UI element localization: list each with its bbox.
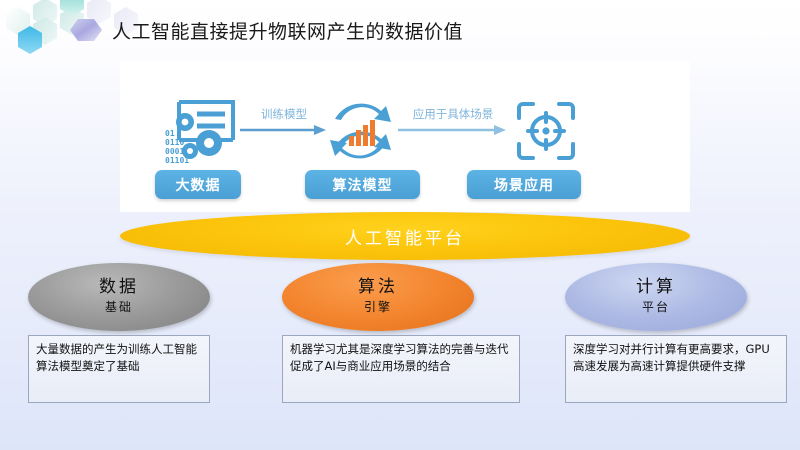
flow-node-scene[interactable]: 场景应用	[467, 170, 581, 199]
pillar-algorithm-title: 算法	[358, 279, 398, 297]
page-title: 人工智能直接提升物联网产生的数据价值	[112, 17, 463, 44]
document-gears-binary-icon: 01 0110 0001 01101	[163, 96, 245, 168]
pillar-algorithm-ellipse[interactable]: 算法 引擎	[282, 263, 474, 331]
svg-text:0110: 0110	[165, 138, 184, 147]
refresh-cycle-barchart-icon	[325, 98, 395, 164]
pillar-algorithm-note: 机器学习尤其是深度学习算法的完善与迭代促成了AI与商业应用场景的结合	[282, 335, 520, 403]
pillar-data-title: 数据	[99, 279, 139, 297]
flow-arrow-2-label: 应用于具体场景	[398, 106, 508, 122]
pillar-data-subtitle: 基础	[105, 298, 133, 315]
flow-node-bigdata[interactable]: 大数据	[155, 170, 241, 199]
pillar-algorithm: 算法 引擎 机器学习尤其是深度学习算法的完善与迭代促成了AI与商业应用场景的结合	[282, 263, 474, 331]
pillar-compute-subtitle: 平台	[642, 298, 670, 315]
pillar-data-note: 大量数据的产生为训练人工智能算法模型奠定了基础	[28, 335, 210, 403]
svg-text:01101: 01101	[165, 156, 189, 165]
arrow-right-icon	[398, 124, 508, 136]
ai-platform-label: 人工智能平台	[345, 224, 465, 249]
arrow-right-icon	[240, 124, 328, 136]
svg-text:01: 01	[165, 129, 175, 138]
ai-platform-banner: 人工智能平台	[120, 212, 690, 260]
focus-target-crosshair-icon	[515, 100, 577, 162]
pillar-data: 数据 基础 大量数据的产生为训练人工智能算法模型奠定了基础	[28, 263, 210, 331]
slide-header: 人工智能直接提升物联网产生的数据价值	[0, 0, 800, 58]
pillar-compute: 计算 平台 深度学习对并行计算有更高要求，GPU高速发展为高速计算提供硬件支撑	[565, 263, 747, 331]
pillar-compute-note: 深度学习对并行计算有更高要求，GPU高速发展为高速计算提供硬件支撑	[565, 335, 787, 403]
slide-canvas: 人工智能直接提升物联网产生的数据价值 01 0110 0001 01101	[0, 0, 800, 450]
pillar-algorithm-subtitle: 引擎	[364, 298, 392, 315]
flow-node-algorithm[interactable]: 算法模型	[305, 170, 420, 199]
pillar-data-ellipse[interactable]: 数据 基础	[28, 263, 210, 331]
hexagon-bullet-icon	[68, 16, 104, 44]
slide-title-row: 人工智能直接提升物联网产生的数据价值	[68, 16, 463, 44]
pillar-compute-title: 计算	[636, 279, 676, 297]
flow-node-scene-label: 场景应用	[494, 175, 554, 195]
flow-node-algorithm-label: 算法模型	[333, 175, 393, 195]
flow-arrow-2: 应用于具体场景	[398, 106, 508, 141]
flow-arrow-1-label: 训练模型	[240, 106, 328, 122]
svg-text:0001: 0001	[165, 147, 184, 156]
flow-arrow-1: 训练模型	[240, 106, 328, 141]
pillar-compute-ellipse[interactable]: 计算 平台	[565, 263, 747, 331]
flow-node-bigdata-label: 大数据	[176, 175, 221, 195]
